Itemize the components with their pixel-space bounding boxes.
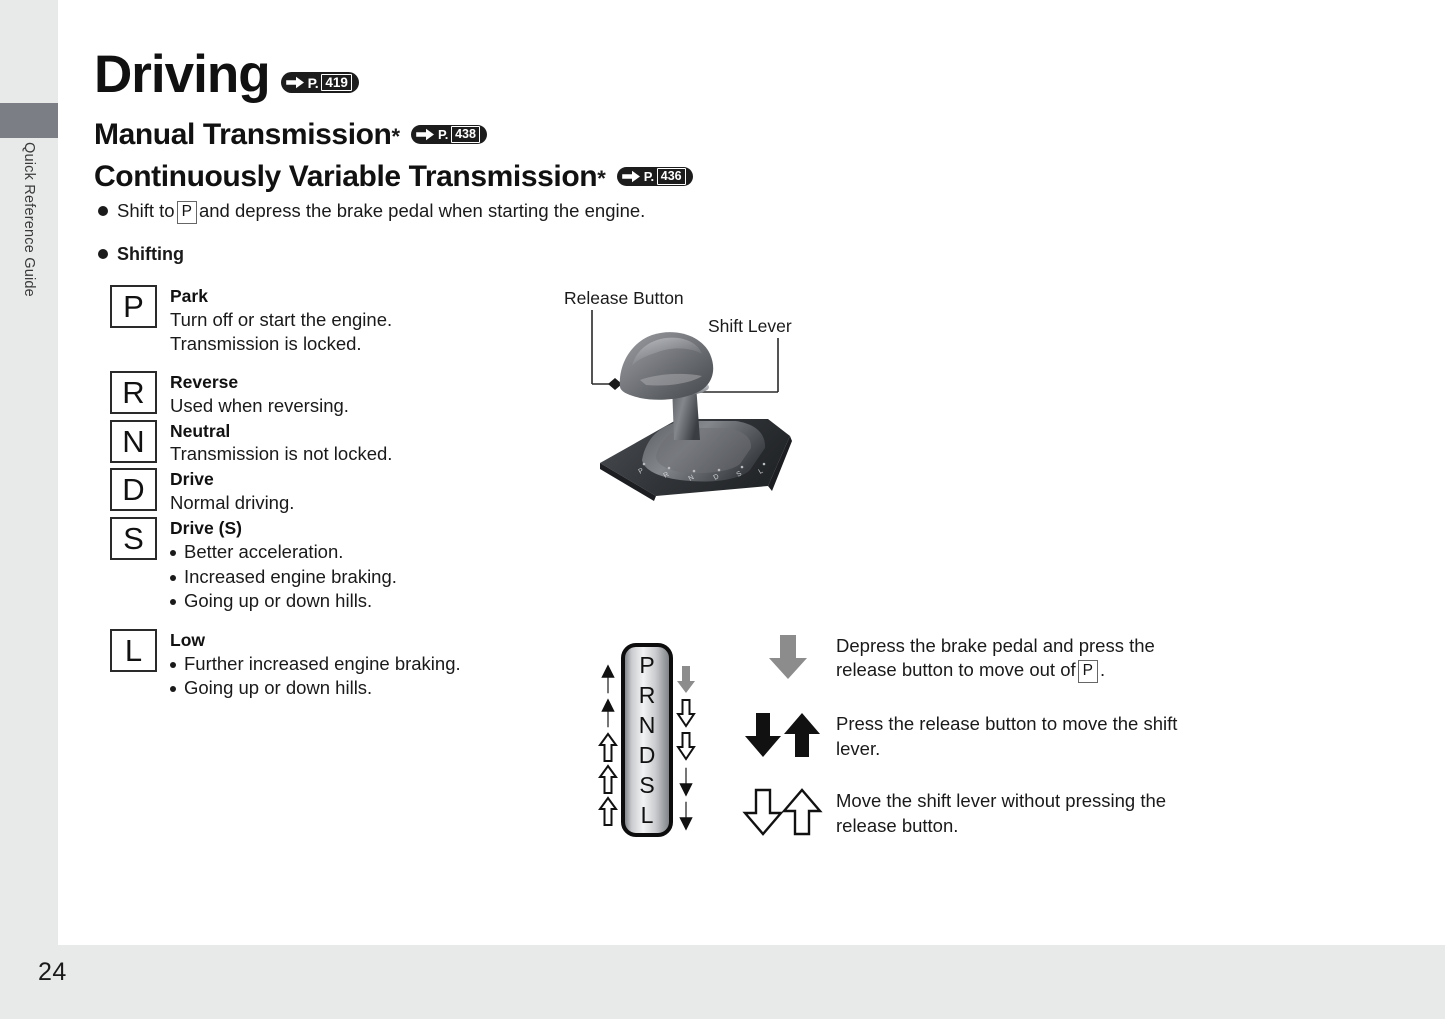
gear-letter-box-r: R: [110, 371, 157, 414]
intro-text-after: and depress the brake pedal when startin…: [199, 200, 645, 221]
gate-letter-n: N: [639, 712, 656, 738]
gear-description-park: Park Turn off or start the engine. Trans…: [170, 285, 392, 356]
gear-sub-bullet: Further increased engine braking.: [170, 652, 461, 677]
reference-page-number: 419: [321, 74, 352, 92]
section-heading-shifting-text: Shifting: [117, 244, 184, 265]
left-arrow-solid-up-2: [602, 700, 614, 728]
gear-item-neutral: N Neutral Transmission is not locked.: [110, 420, 540, 467]
gear-letter-box-s: S: [110, 517, 157, 560]
right-arrow-gray-down: [677, 666, 695, 693]
sub-bullet-dot-icon: [170, 599, 176, 605]
shift-knob: [620, 332, 713, 400]
arrow-right-icon: [621, 170, 641, 183]
inline-gear-box-p: P: [1078, 660, 1098, 684]
arrow-right-icon: [285, 76, 305, 89]
inline-gear-box-p: P: [177, 201, 197, 225]
gear-desc-line: Turn off or start the engine.: [170, 308, 392, 332]
sub-bullet-dot-icon: [170, 550, 176, 556]
outline-down-arrow-icon: [745, 790, 781, 834]
gear-name: Low: [170, 629, 461, 652]
shift-boot: [642, 421, 765, 482]
left-arrow-outline-up-3: [600, 798, 616, 825]
gear-name: Reverse: [170, 371, 349, 394]
reference-prefix: P.: [308, 76, 319, 90]
gear-desc-line: Normal driving.: [170, 491, 294, 515]
gear-sub-bullet-text: Going up or down hills.: [184, 589, 372, 614]
gear-item-reverse: R Reverse Used when reversing.: [110, 371, 540, 418]
right-arrow-solid-down-1: [680, 768, 692, 796]
solid-up-arrow-icon: [784, 713, 820, 757]
legend-text-press-release-button: Press the release button to move the shi…: [836, 710, 1210, 761]
legend-row-no-release-button: Move the shift lever without pressing th…: [740, 787, 1210, 838]
sidebar: Quick Reference Guide: [0, 0, 58, 1019]
sub-bullet-dot-icon: [170, 686, 176, 692]
gray-down-arrow-icon: [766, 632, 810, 682]
page-reference-badge-driving[interactable]: P. 419: [281, 72, 359, 93]
gear-sub-bullet-text: Going up or down hills.: [184, 676, 372, 701]
gate-right-down-arrows: [677, 666, 695, 829]
gear-name: Drive: [170, 468, 294, 491]
gear-name: Park: [170, 285, 392, 308]
gear-description-neutral: Neutral Transmission is not locked.: [170, 420, 392, 467]
legend-text-after: .: [1100, 659, 1105, 680]
section-heading-shifting: Shifting: [98, 244, 184, 265]
gate-left-up-arrows: [600, 666, 616, 825]
document-page: Quick Reference Guide 24 Driving P. 419 …: [0, 0, 1445, 1019]
shift-gate-diagram: P R N D S L: [592, 640, 702, 840]
reference-prefix: P.: [438, 128, 448, 141]
gear-sub-bullet-text: Better acceleration.: [184, 540, 343, 565]
left-arrow-outline-up-2: [600, 766, 616, 793]
shift-lever-illustration: Release Button Shift Lever: [560, 288, 890, 513]
gate-letter-s: S: [639, 772, 654, 798]
legend-icons-gray-down: [740, 632, 836, 682]
gear-item-drive: D Drive Normal driving.: [110, 468, 540, 515]
page-title: Driving P. 419: [94, 48, 359, 101]
gear-sub-bullet: Better acceleration.: [170, 540, 397, 565]
page-number: 24: [38, 958, 67, 987]
bullet-dot-icon: [98, 249, 108, 259]
solid-down-up-arrow-pair-icon: [742, 710, 834, 760]
gear-position-list: P Park Turn off or start the engine. Tra…: [110, 285, 540, 703]
gear-name: Neutral: [170, 420, 392, 443]
gear-item-park: P Park Turn off or start the engine. Tra…: [110, 285, 540, 356]
outline-up-arrow-icon: [784, 790, 820, 834]
intro-bullet-text: Shift toPand depress the brake pedal whe…: [117, 200, 645, 225]
gear-desc-line: Used when reversing.: [170, 394, 349, 418]
gear-description-drive-s: Drive (S) Better acceleration. Increased…: [170, 517, 397, 614]
gear-description-reverse: Reverse Used when reversing.: [170, 371, 349, 418]
reference-page-number: 438: [451, 126, 480, 143]
right-arrow-solid-down-2: [680, 802, 692, 830]
gear-item-low: L Low Further increased engine braking. …: [110, 629, 540, 701]
reference-prefix: P.: [644, 170, 654, 183]
gear-description-drive: Drive Normal driving.: [170, 468, 294, 515]
gear-letter-box-l: L: [110, 629, 157, 672]
legend-row-out-of-park: Depress the brake pedal and press the re…: [740, 632, 1210, 684]
arrow-right-icon: [415, 128, 435, 141]
legend-text-out-of-park: Depress the brake pedal and press the re…: [836, 632, 1210, 684]
gear-desc-line: Transmission is locked.: [170, 332, 392, 356]
legend-row-press-release-button: Press the release button to move the shi…: [740, 710, 1210, 761]
left-arrow-solid-up-1: [602, 666, 614, 694]
sub-bullet-dot-icon: [170, 575, 176, 581]
shift-lever-drawing: P R N D S L: [560, 288, 890, 513]
heading-manual-transmission: Manual Transmission * P. 438: [94, 120, 487, 150]
gear-letter-box-n: N: [110, 420, 157, 463]
shift-gate-drawing: P R N D S L: [592, 640, 702, 840]
gear-letter-box-p: P: [110, 285, 157, 328]
gear-sub-bullet-text: Increased engine braking.: [184, 565, 397, 590]
page-reference-badge-manual-transmission[interactable]: P. 438: [411, 125, 487, 144]
sidebar-tab-label: Quick Reference Guide: [0, 142, 58, 402]
gate-letter-l: L: [641, 802, 654, 828]
intro-text-before: Shift to: [117, 200, 175, 221]
page-reference-badge-cvt[interactable]: P. 436: [617, 167, 693, 186]
gear-desc-line: Transmission is not locked.: [170, 442, 392, 466]
gate-letter-d: D: [639, 742, 656, 768]
gear-sub-bullet: Going up or down hills.: [170, 676, 461, 701]
solid-down-arrow-icon: [745, 713, 781, 757]
sidebar-section-tab: [0, 103, 58, 138]
legend-text-before: Depress the brake pedal and press the re…: [836, 635, 1155, 680]
sub-bullet-dot-icon: [170, 662, 176, 668]
right-arrow-outline-down-1: [678, 700, 694, 726]
legend-icons-solid-pair: [740, 710, 836, 760]
intro-bullet-shift-to-park: Shift toPand depress the brake pedal whe…: [98, 200, 645, 225]
legend-text-no-release-button: Move the shift lever without pressing th…: [836, 787, 1210, 838]
gear-item-drive-s: S Drive (S) Better acceleration. Increas…: [110, 517, 540, 614]
legend-icons-outline-pair: [740, 787, 836, 837]
arrow-legend: Depress the brake pedal and press the re…: [740, 632, 1210, 864]
bullet-dot-icon: [98, 206, 108, 216]
left-arrow-outline-up-1: [600, 734, 616, 761]
heading-continuously-variable-transmission: Continuously Variable Transmission * P. …: [94, 162, 693, 192]
right-arrow-outline-down-2: [678, 733, 694, 759]
gear-description-low: Low Further increased engine braking. Go…: [170, 629, 461, 701]
gear-sub-bullet: Going up or down hills.: [170, 589, 397, 614]
gear-sub-bullet: Increased engine braking.: [170, 565, 397, 590]
gate-letter-p: P: [639, 652, 654, 678]
outline-down-up-arrow-pair-icon: [742, 787, 834, 837]
sidebar-tab-label-text: Quick Reference Guide: [21, 142, 37, 297]
heading-manual-transmission-text: Manual Transmission: [94, 120, 391, 150]
gear-sub-bullet-text: Further increased engine braking.: [184, 652, 461, 677]
gate-letter-r: R: [639, 682, 656, 708]
page-title-text: Driving: [94, 48, 270, 101]
heading-cvt-text: Continuously Variable Transmission: [94, 162, 597, 192]
page-footer: [0, 945, 1445, 1019]
gear-letter-box-d: D: [110, 468, 157, 511]
reference-page-number: 436: [657, 168, 686, 185]
gear-name: Drive (S): [170, 517, 397, 540]
